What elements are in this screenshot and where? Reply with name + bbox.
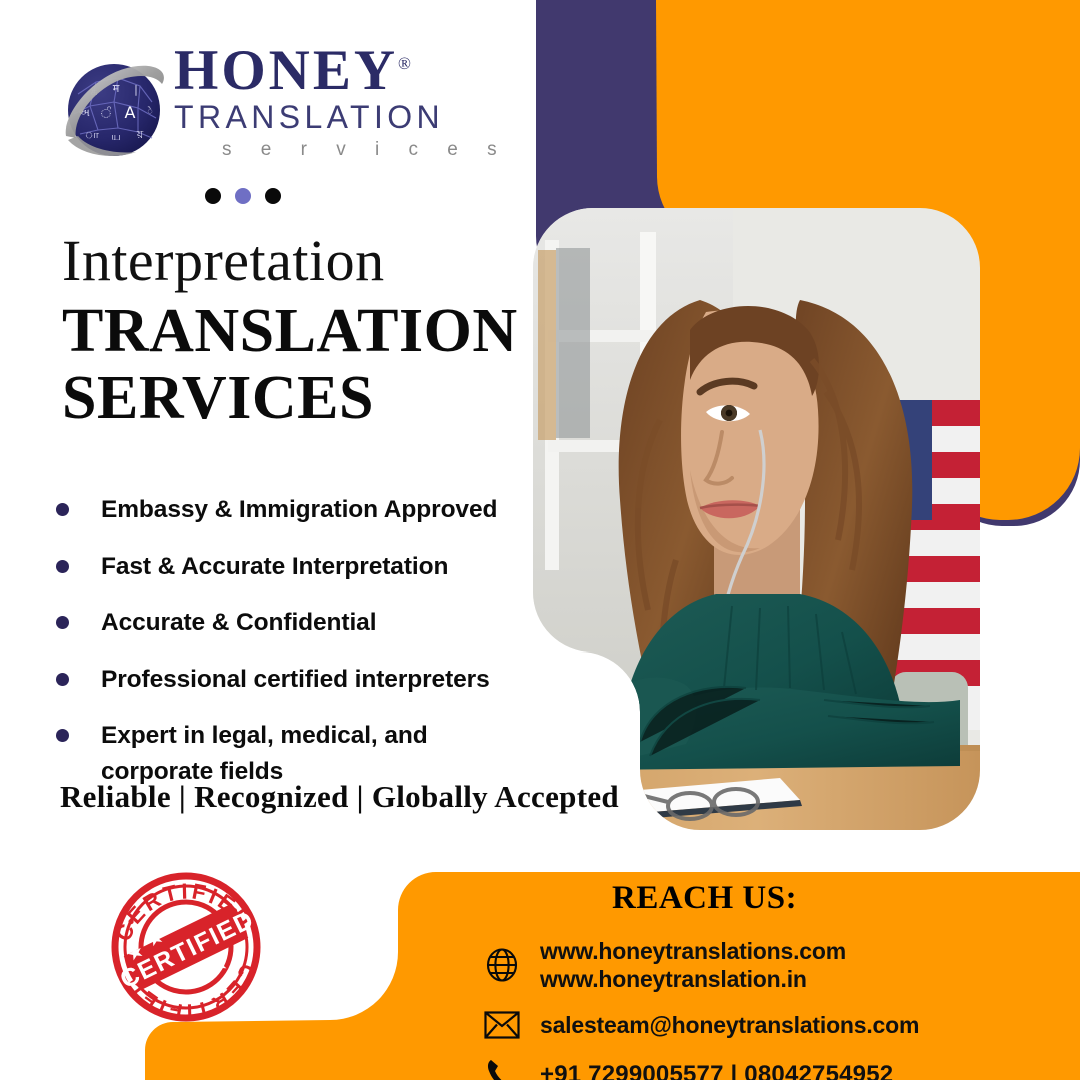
svg-text:म: म <box>113 82 120 95</box>
bullet-dot-icon <box>56 616 69 629</box>
dot-black-right <box>265 188 281 204</box>
headline-line-1: TRANSLATION <box>62 298 532 365</box>
svg-text:ੰ: ੰ <box>101 106 111 122</box>
svg-text:ய: ய <box>111 130 120 143</box>
svg-text:A: A <box>125 103 136 122</box>
headline-kicker: Interpretation <box>62 232 532 290</box>
reach-us-heading: REACH US: <box>612 880 1080 917</box>
bullet-label: Accurate & Confidential <box>101 605 376 641</box>
globe-logo-icon: க म | અ ੰ A े ா ய য় <box>56 48 172 164</box>
phone-icon <box>480 1057 524 1080</box>
brand-logo: க म | અ ੰ A े ா ய য় HONEY® TRANSLATION s… <box>56 42 476 182</box>
phone-row[interactable]: +91 7299005577 | 08042754952 <box>480 1057 1080 1080</box>
bullet-dot-icon <box>56 673 69 686</box>
logo-wordmark: HONEY® TRANSLATION s e r v i c e s <box>174 42 474 161</box>
website-2[interactable]: www.honeytranslation.in <box>540 966 807 992</box>
envelope-icon <box>480 1011 524 1039</box>
logo-dot-separator <box>205 188 281 204</box>
phone-text[interactable]: +91 7299005577 | 08042754952 <box>540 1060 893 1080</box>
feature-bullet-list: Embassy & Immigration Approved Fast & Ac… <box>56 492 526 810</box>
dot-black-left <box>205 188 221 204</box>
dot-purple-middle <box>235 188 251 204</box>
svg-text:য়: য় <box>136 128 144 141</box>
bullet-dot-icon <box>56 503 69 516</box>
list-item: Embassy & Immigration Approved <box>56 492 526 528</box>
email-row[interactable]: salesteam@honeytranslations.com <box>480 1011 1080 1039</box>
logo-subline: TRANSLATION <box>174 101 474 135</box>
website-1[interactable]: www.honeytranslations.com <box>540 938 846 964</box>
list-item: Fast & Accurate Interpretation <box>56 549 526 585</box>
hero-photo-image <box>533 208 980 830</box>
bullet-label: Embassy & Immigration Approved <box>101 492 497 528</box>
contact-details: REACH US: www.honeytranslations.com www.… <box>480 880 1080 1080</box>
svg-text:ா: ா <box>85 128 99 141</box>
hero-photo <box>533 208 980 830</box>
bullet-dot-icon <box>56 560 69 573</box>
poster-canvas: க म | અ ੰ A े ா ய য় HONEY® TRANSLATION s… <box>0 0 1080 1080</box>
bullet-label: Fast & Accurate Interpretation <box>101 549 448 585</box>
logo-name: HONEY® <box>174 42 474 99</box>
bullet-dot-icon <box>56 729 69 742</box>
list-item: Professional certified interpreters <box>56 662 526 698</box>
globe-icon <box>480 948 524 982</box>
website-row[interactable]: www.honeytranslations.com www.honeytrans… <box>480 937 1080 993</box>
svg-text:े: े <box>147 106 152 117</box>
registered-mark: ® <box>398 54 411 73</box>
bullet-label: Professional certified interpreters <box>101 662 490 698</box>
list-item: Accurate & Confidential <box>56 605 526 641</box>
headline-block: Interpretation TRANSLATION SERVICES <box>62 232 532 432</box>
email-text[interactable]: salesteam@honeytranslations.com <box>540 1011 919 1039</box>
svg-text:|: | <box>134 83 138 96</box>
logo-services-line: s e r v i c e s <box>222 139 474 161</box>
headline-line-2: SERVICES <box>62 365 532 432</box>
website-text: www.honeytranslations.com www.honeytrans… <box>540 937 846 993</box>
